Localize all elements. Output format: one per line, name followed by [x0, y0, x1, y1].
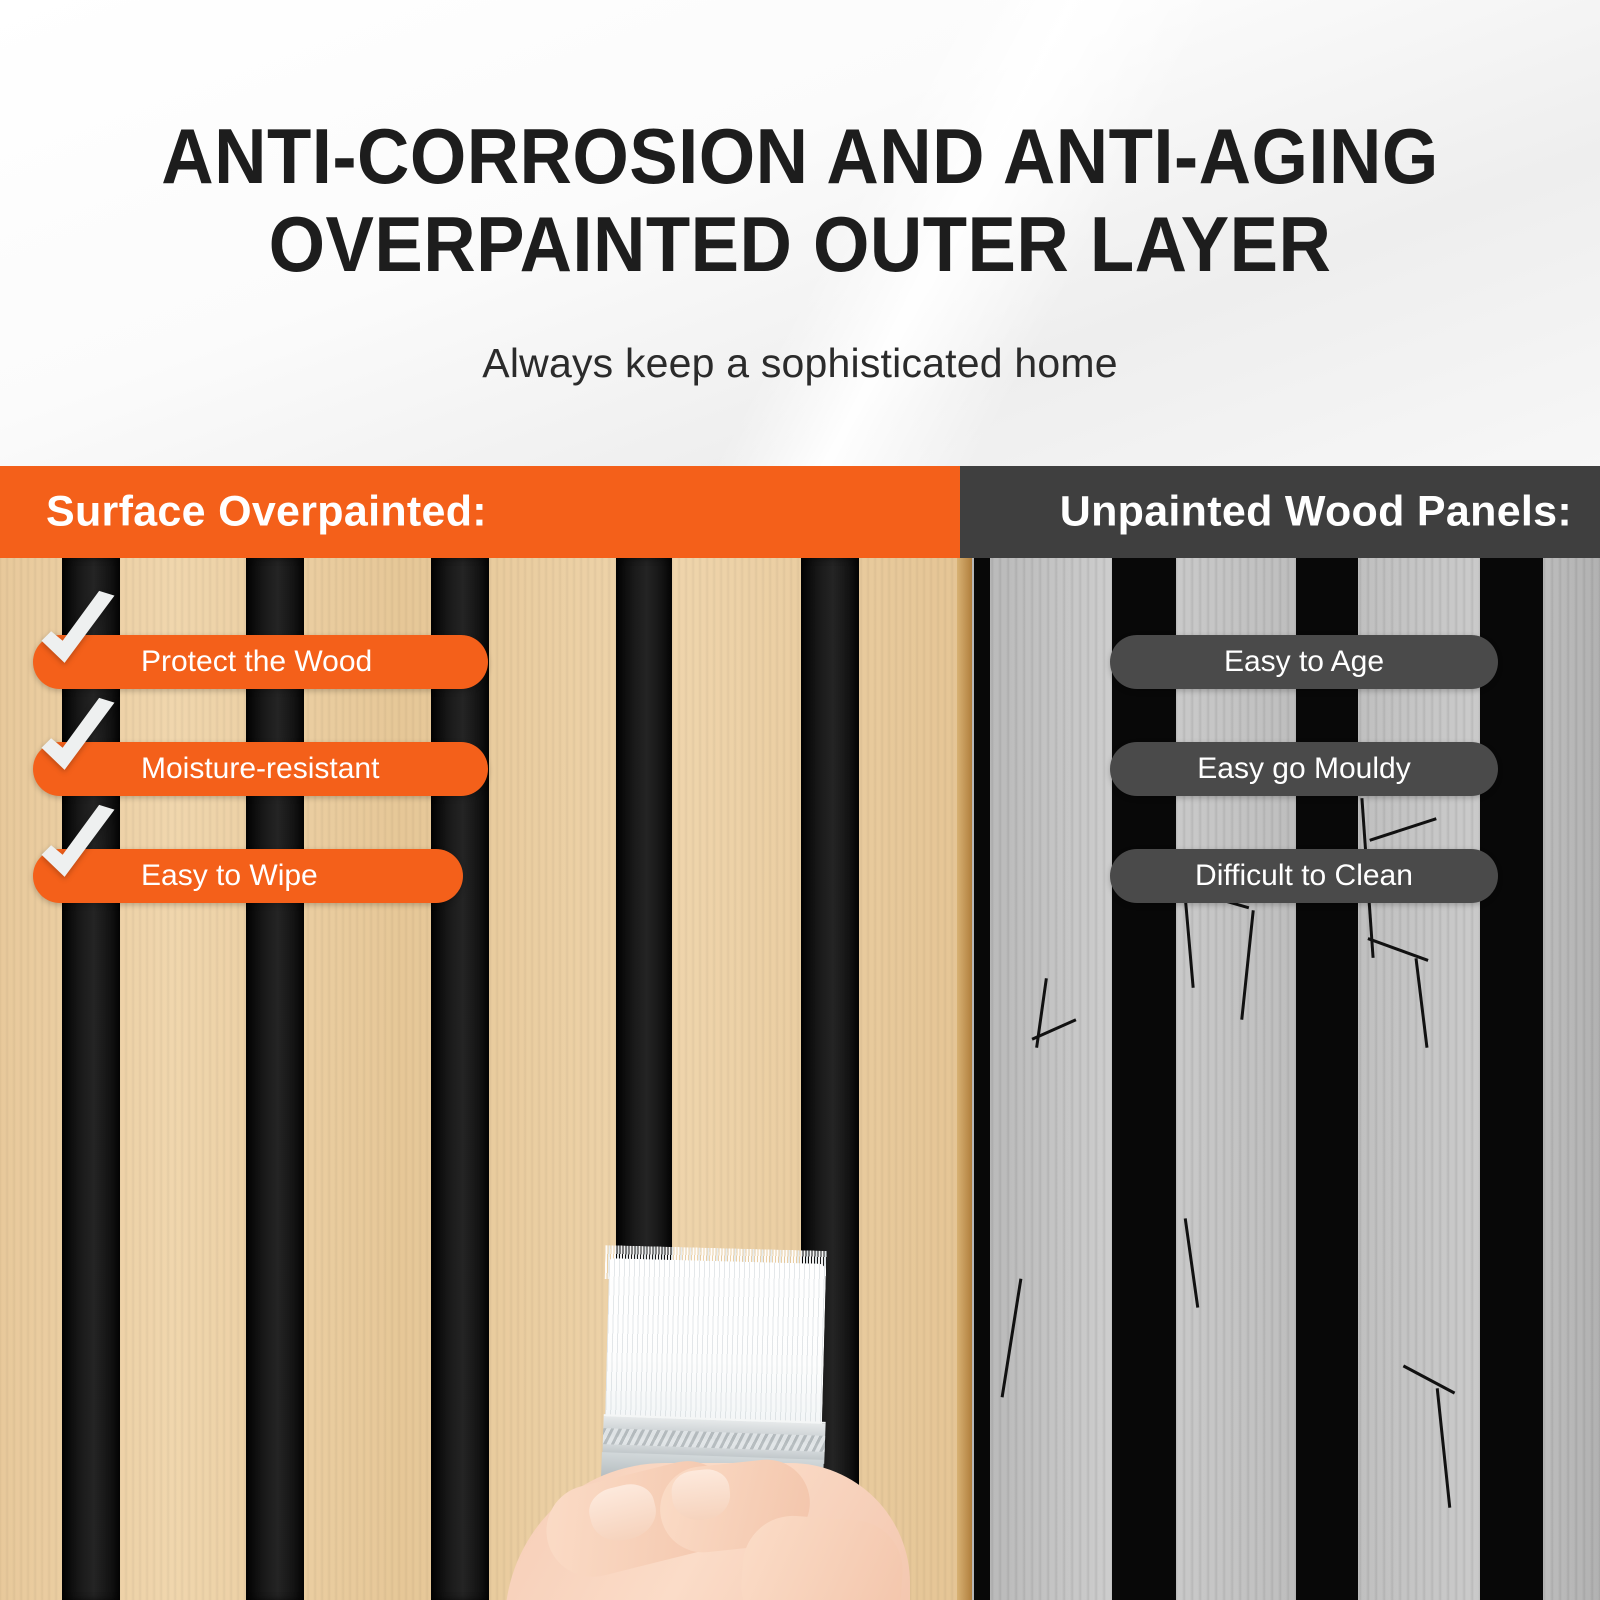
drawback-pill-label: Easy go Mouldy	[1197, 752, 1410, 786]
wood-slat-gap	[62, 558, 120, 1600]
gray-slat-gap	[974, 558, 990, 1600]
banner-bad-side: Unpainted Wood Panels:	[960, 466, 1600, 558]
feature-pill-easy-to-wipe[interactable]: Easy to Wipe	[33, 849, 463, 903]
brush-bristles	[605, 1258, 826, 1431]
gray-slat-gap	[1112, 558, 1176, 1600]
panel-divider-edge	[957, 558, 972, 1600]
feature-pill-label: Easy to Wipe	[141, 859, 318, 893]
product-feature-graphic: ANTI-CORROSION AND ANTI-AGING OVERPAINTE…	[0, 0, 1600, 1600]
comparison-banner: Surface Overpainted: Unpainted Wood Pane…	[0, 466, 1600, 558]
comparison-imagery: Protect the Wood Moisture-resistant Easy…	[0, 558, 1600, 1600]
feature-pill-label: Protect the Wood	[141, 645, 372, 679]
title-line-2: OVERPAINTED OUTER LAYER	[56, 200, 1544, 288]
drawback-pill-easy-to-age[interactable]: Easy to Age	[1110, 635, 1498, 689]
title-line-1: ANTI-CORROSION AND ANTI-AGING	[56, 112, 1544, 200]
header-section: ANTI-CORROSION AND ANTI-AGING OVERPAINTE…	[0, 0, 1600, 470]
banner-bad-label: Unpainted Wood Panels:	[1060, 488, 1572, 537]
banner-good-side: Surface Overpainted:	[0, 466, 960, 558]
wood-slat-gap	[246, 558, 304, 1600]
drawback-pill-label: Easy to Age	[1224, 645, 1384, 679]
banner-good-label: Surface Overpainted:	[46, 488, 487, 537]
drawback-pill-easy-go-mouldy[interactable]: Easy go Mouldy	[1110, 742, 1498, 796]
gray-slat-gap	[1480, 558, 1543, 1600]
drawback-pill-label: Difficult to Clean	[1195, 859, 1413, 893]
drawback-pill-difficult-to-clean[interactable]: Difficult to Clean	[1110, 849, 1498, 903]
feature-pill-moisture-resistant[interactable]: Moisture-resistant	[33, 742, 488, 796]
page-title: ANTI-CORROSION AND ANTI-AGING OVERPAINTE…	[56, 112, 1544, 288]
gray-slat-gap	[1296, 558, 1358, 1600]
wood-slat-gap	[431, 558, 489, 1600]
page-subtitle: Always keep a sophisticated home	[0, 340, 1600, 387]
feature-pill-label: Moisture-resistant	[141, 752, 379, 786]
feature-pill-protect-the-wood[interactable]: Protect the Wood	[33, 635, 488, 689]
